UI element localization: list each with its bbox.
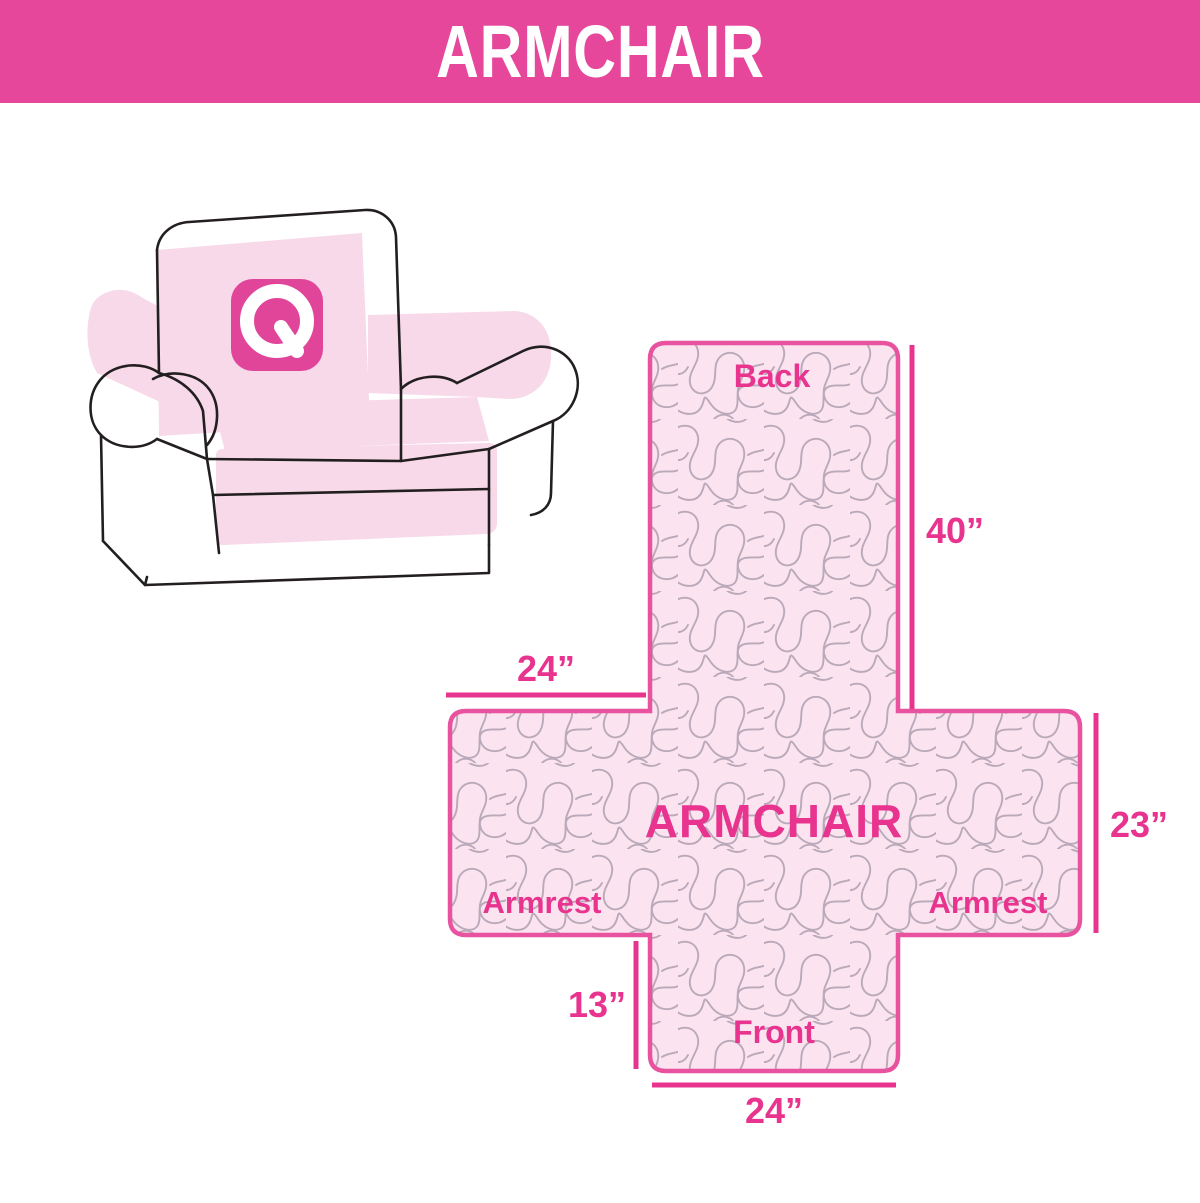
dimension-front-height-value: 13” — [568, 984, 626, 1025]
dimension-front-height: 13” — [568, 941, 636, 1069]
dimension-back-height-value: 40” — [926, 510, 984, 551]
panel-label-armrest-left: Armrest — [483, 885, 602, 920]
page-title: ARMCHAIR — [436, 15, 765, 89]
dimension-front-width: 24” — [652, 1085, 896, 1131]
dimension-front-width-value: 24” — [745, 1090, 803, 1131]
dimension-center-height: 23” — [1096, 713, 1168, 933]
dimension-center-height-value: 23” — [1110, 804, 1168, 845]
cover-layout-diagram: Back ARMCHAIR Armrest Armrest Front 40” … — [420, 333, 1200, 1203]
dimension-armrest-width: 24” — [446, 648, 646, 695]
panel-label-center: ARMCHAIR — [645, 795, 903, 847]
chair-left-arm-front — [157, 439, 207, 459]
product-dimension-page: ARMCHAIR — [0, 0, 1200, 1200]
content-stage: Back ARMCHAIR Armrest Armrest Front 40” … — [0, 103, 1200, 1200]
brand-logo — [231, 279, 323, 371]
dimension-armrest-width-value: 24” — [517, 648, 575, 689]
panel-label-back: Back — [734, 358, 811, 394]
cover-cross-shape — [450, 343, 1080, 1071]
chair-left-side-front-edge — [101, 435, 103, 541]
dimension-back-height: 40” — [912, 345, 984, 709]
panel-label-armrest-right: Armrest — [929, 885, 1048, 920]
panel-label-front: Front — [733, 1014, 815, 1050]
header-banner: ARMCHAIR — [0, 0, 1200, 103]
